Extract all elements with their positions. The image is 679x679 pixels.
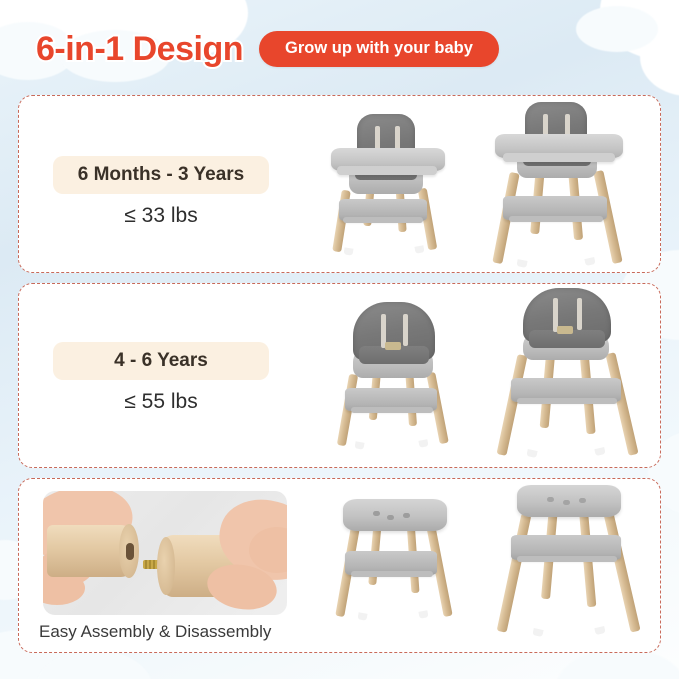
weight-limit-1: ≤ 33 lbs — [53, 204, 269, 228]
product-tall-chair-no-tray — [493, 288, 661, 466]
panel-age-4-6years: 4 - 6 Years ≤ 55 lbs — [18, 283, 661, 468]
weight-limit-2: ≤ 55 lbs — [53, 390, 269, 414]
product-low-stool — [329, 493, 479, 643]
product-low-high-chair-with-tray — [319, 104, 469, 264]
panel-age-6months-3years: 6 Months - 3 Years ≤ 33 lbs — [18, 95, 661, 273]
assembly-caption: Easy Assembly & Disassembly — [39, 622, 271, 642]
tagline-badge: Grow up with your baby — [259, 31, 499, 67]
product-low-chair-no-tray — [327, 296, 477, 462]
assembly-photo — [43, 491, 287, 615]
panel-easy-assembly: Easy Assembly & Disassembly — [18, 478, 661, 653]
infographic-canvas: 6-in-1 Design Grow up with your baby 6 M… — [0, 0, 679, 679]
product-tall-stool — [495, 483, 663, 651]
page-title: 6-in-1 Design — [36, 30, 243, 69]
product-tall-high-chair-with-tray — [481, 98, 651, 270]
header: 6-in-1 Design Grow up with your baby — [0, 18, 679, 80]
age-range-badge-2: 4 - 6 Years — [53, 342, 269, 380]
age-range-badge-1: 6 Months - 3 Years — [53, 156, 269, 194]
